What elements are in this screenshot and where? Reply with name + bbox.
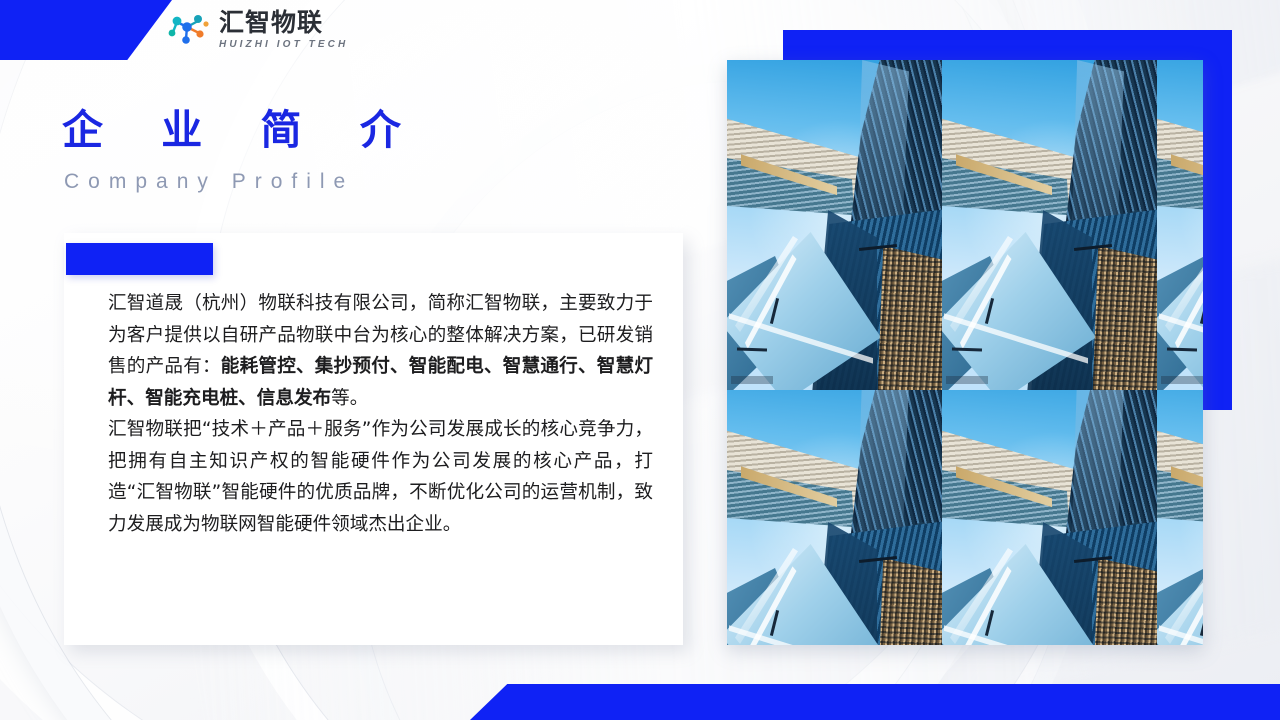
skyscraper-tile-6 <box>1157 390 1203 645</box>
skyscraper-tile-4 <box>727 390 942 645</box>
photo-tile <box>1157 390 1203 645</box>
slide-root: 汇智物联 HUIZHI IOT TECH 企 业 简 介 Company Pro… <box>0 0 1280 720</box>
corner-shape-top-left <box>0 0 172 60</box>
photo-grid <box>727 60 1203 645</box>
skyscraper-tile-5 <box>942 390 1157 645</box>
page-title: 企 业 简 介 <box>62 96 423 156</box>
corner-shape-bottom <box>470 684 1280 720</box>
photo-tile <box>727 60 942 390</box>
profile-text: 汇智道晟（杭州）物联科技有限公司，简称汇智物联，主要致力于为客户提供以自研产品物… <box>108 288 653 540</box>
logo-chinese-name: 汇智物联 <box>219 10 348 35</box>
photo-backplate-top <box>783 30 1232 61</box>
page-subtitle: Company Profile <box>64 170 354 194</box>
skyscraper-tile-3 <box>1157 60 1203 390</box>
photo-tile <box>1157 60 1203 390</box>
skyscraper-tile-2 <box>942 60 1157 390</box>
skyscraper-tile-1 <box>727 60 942 390</box>
photo-tile <box>727 390 942 645</box>
company-logo: 汇智物联 HUIZHI IOT TECH <box>165 10 348 50</box>
profile-paragraph-1: 汇智道晟（杭州）物联科技有限公司，简称汇智物联，主要致力于为客户提供以自研产品物… <box>108 288 653 414</box>
photo-tile <box>942 390 1157 645</box>
logo-english-name: HUIZHI IOT TECH <box>219 40 348 50</box>
card-accent-bar <box>66 243 213 275</box>
photo-tile <box>942 60 1157 390</box>
profile-paragraph-2: 汇智物联把“技术＋产品＋服务”作为公司发展成长的核心竞争力，把拥有自主知识产权的… <box>108 414 653 540</box>
molecule-network-icon <box>165 10 211 50</box>
